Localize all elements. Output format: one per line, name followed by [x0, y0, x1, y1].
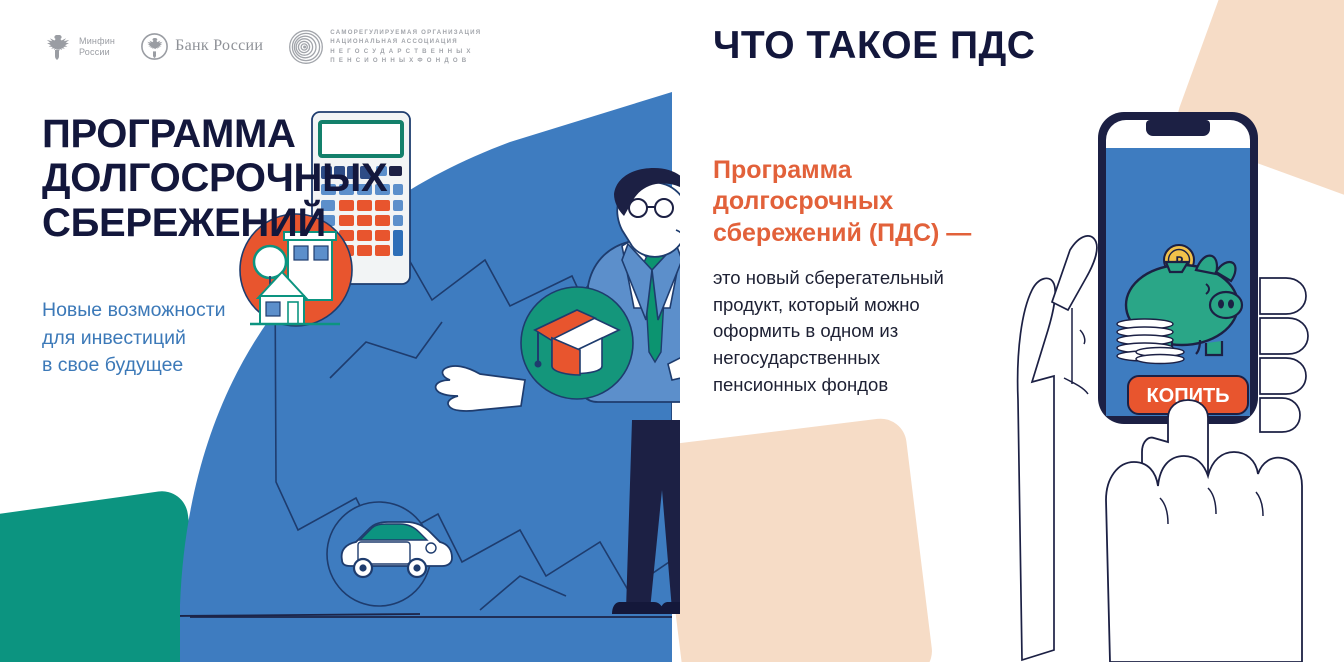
- right-hand-fingers-graphic: [1260, 278, 1308, 432]
- double-headed-eagle-icon: [42, 32, 72, 62]
- bank-of-russia-eagle-icon: [141, 33, 168, 60]
- left-subtitle: Новые возможности для инвестиций в свое …: [42, 297, 342, 380]
- left-subtitle-line-1: Новые возможности: [42, 297, 342, 325]
- decorative-peach-block-bottom: [655, 416, 935, 662]
- napf-spiral-icon: [289, 30, 323, 64]
- left-subtitle-line-3: в свое будущее: [42, 352, 342, 380]
- logo-bar: Минфин России Банк России: [42, 28, 481, 66]
- left-headline-line-3: СБЕРЕЖЕНИЙ: [42, 201, 472, 245]
- left-headline-line-2: ДОЛГОСРОЧНЫХ: [42, 156, 472, 200]
- logo-minfin: Минфин России: [42, 32, 115, 62]
- poster-canvas: Минфин России Банк России: [0, 0, 1344, 662]
- logo-napf-label: САМОРЕГУЛИРУЕМАЯ ОРГАНИЗАЦИЯ НАЦИОНАЛЬНА…: [330, 28, 481, 66]
- logo-minfin-label: Минфин России: [79, 36, 115, 57]
- left-headline: ПРОГРАММА ДОЛГОСРОЧНЫХ СБЕРЕЖЕНИЙ: [42, 112, 472, 245]
- right-headline: ЧТО ТАКОЕ ПДС: [713, 24, 1035, 68]
- left-subtitle-line-2: для инвестиций: [42, 325, 342, 353]
- lower-hand-graphic: [1106, 452, 1302, 662]
- phone-notch: [1146, 120, 1210, 136]
- left-headline-line-1: ПРОГРАММА: [42, 112, 472, 156]
- graduation-cap-icon-circle: [521, 287, 633, 399]
- left-hand-graphic: [1018, 236, 1097, 660]
- logo-bank-rossii-label: Банк России: [175, 37, 263, 56]
- logo-napf: САМОРЕГУЛИРУЕМАЯ ОРГАНИЗАЦИЯ НАЦИОНАЛЬНА…: [289, 28, 481, 66]
- logo-bank-rossii: Банк России: [141, 33, 263, 60]
- phone-in-hands-illustration: ₽: [960, 100, 1344, 662]
